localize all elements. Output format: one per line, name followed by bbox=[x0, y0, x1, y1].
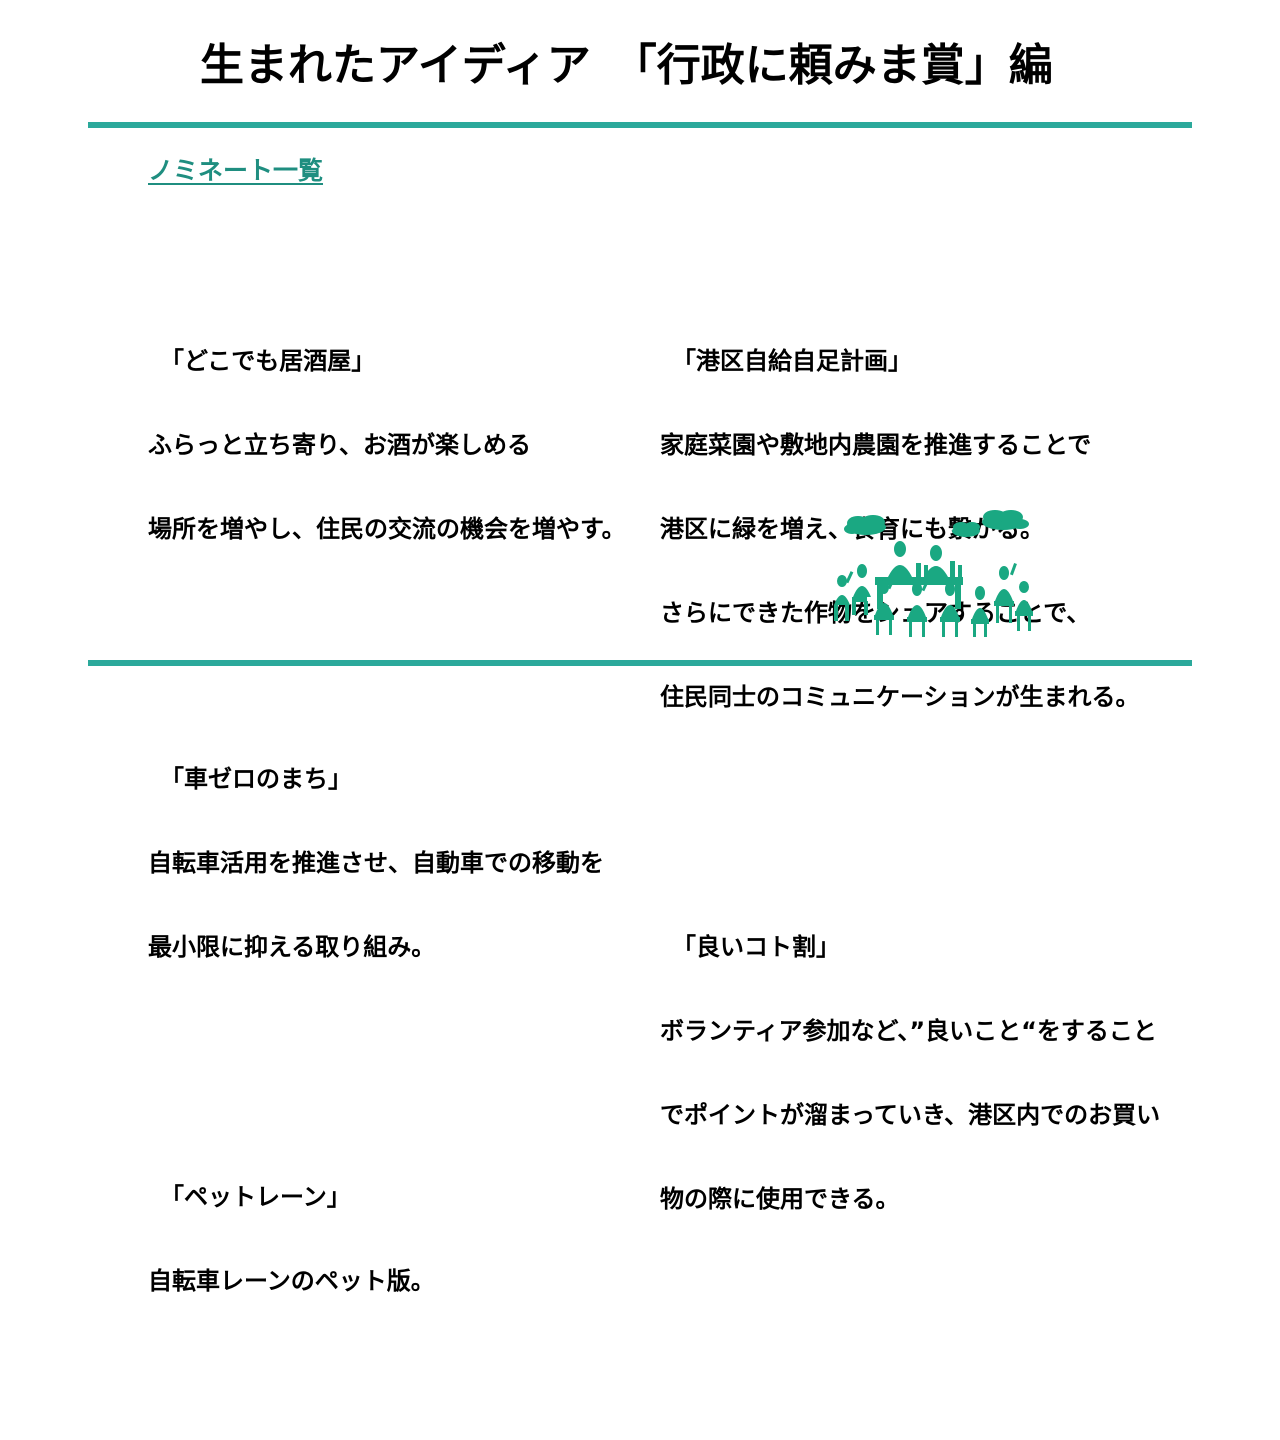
audience-figure bbox=[994, 563, 1017, 623]
divider-bottom bbox=[88, 660, 1192, 666]
entry-title: 「港区自給自足計画」 bbox=[660, 347, 1180, 375]
entry-title: 「ペットレーン」 bbox=[148, 1183, 648, 1211]
entry-line: 家庭菜園や敷地内農園を推進することで bbox=[660, 431, 1180, 459]
slide-canvas: 生まれたアイディア 「行政に頼みま賞」編 ノミネート一覧 「どこでも居酒屋」 ふ… bbox=[0, 0, 1280, 720]
entry-title: 「良いコト割」 bbox=[660, 933, 1180, 961]
audience-figure bbox=[971, 586, 989, 637]
right-column: 「港区自給自足計画」 家庭菜園や敷地内農園を推進することで 港区に緑を増え、食育… bbox=[660, 207, 1180, 1353]
audience-figure bbox=[907, 579, 929, 637]
list-item: 「どこでも居酒屋」 ふらっと立ち寄り、お酒が楽しめる 場所を増やし、住民の交流の… bbox=[148, 291, 648, 599]
entry-line: 物の際に使用できる。 bbox=[660, 1185, 1180, 1213]
list-item: 「ペットレーン」 自転車レーンのペット版。 bbox=[148, 1127, 648, 1351]
cloud-icon-middle bbox=[952, 522, 980, 537]
entry-line: でポイントが溜まっていき、港区内でのお買い bbox=[660, 1101, 1180, 1129]
entry-line: 場所を増やし、住民の交流の機会を増やす。 bbox=[148, 515, 648, 543]
entry-line: ふらっと立ち寄り、お酒が楽しめる bbox=[148, 431, 648, 459]
audience-figure bbox=[834, 571, 853, 621]
entry-line: 住民同士のコミュニケーションが生まれる。 bbox=[660, 683, 1180, 711]
list-item: 「車ゼロのまち」 自転車活用を推進させ、自動車での移動を 最小限に抑える取り組み… bbox=[148, 709, 648, 1017]
entry-line: 自転車活用を推進させ、自動車での移動を bbox=[148, 849, 648, 877]
panel-table bbox=[875, 541, 963, 609]
divider-top bbox=[88, 122, 1192, 128]
section-heading-nominees: ノミネート一覧 bbox=[148, 157, 323, 185]
audience-figure bbox=[1015, 581, 1033, 631]
list-item: 「良いコト割」 ボランティア参加など、”良いこと“をすること でポイントが溜まっ… bbox=[660, 877, 1180, 1269]
community-meeting-illustration bbox=[828, 505, 1033, 640]
audience-figure bbox=[852, 564, 871, 615]
entry-line: 最小限に抑える取り組み。 bbox=[148, 933, 648, 961]
entry-line: ボランティア参加など、”良いこと“をすること bbox=[660, 1017, 1180, 1045]
cloud-icon-left bbox=[844, 515, 886, 535]
entry-line: 自転車レーンのペット版。 bbox=[148, 1267, 648, 1295]
entry-title: 「車ゼロのまち」 bbox=[148, 765, 648, 793]
cloud-icon-right bbox=[982, 510, 1029, 530]
left-column: 「どこでも居酒屋」 ふらっと立ち寄り、お酒が楽しめる 場所を増やし、住民の交流の… bbox=[148, 207, 648, 1440]
entry-title: 「どこでも居酒屋」 bbox=[148, 347, 648, 375]
page-title: 生まれたアイディア 「行政に頼みま賞」編 bbox=[200, 44, 1200, 88]
